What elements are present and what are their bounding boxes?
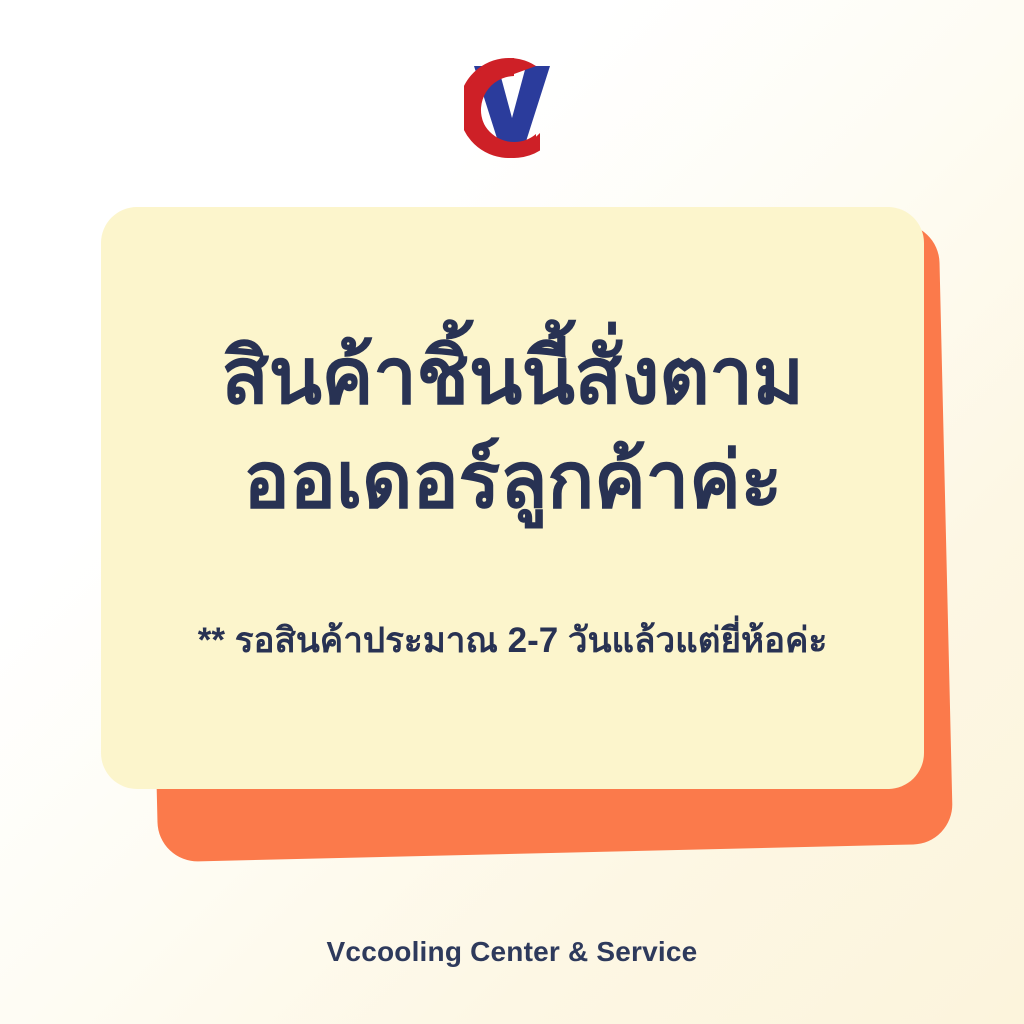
notice-subtitle: ** รอสินค้าประมาณ 2-7 วันแล้วแต่ยี่ห้อค่…: [198, 618, 828, 664]
headline-line-1: สินค้าชิ้นนี้สั่งตาม: [221, 325, 803, 429]
poster-canvas: สินค้าชิ้นนี้สั่งตาม ออเดอร์ลูกค้าค่ะ **…: [0, 0, 1024, 1024]
notice-card-body: สินค้าชิ้นนี้สั่งตาม ออเดอร์ลูกค้าค่ะ **…: [101, 207, 924, 789]
footer-brand-name: Vccooling Center & Service: [327, 936, 698, 968]
notice-card-stack: สินค้าชิ้นนี้สั่งตาม ออเดอร์ลูกค้าค่ะ **…: [0, 0, 1024, 1024]
notice-card: สินค้าชิ้นนี้สั่งตาม ออเดอร์ลูกค้าค่ะ **…: [101, 207, 924, 789]
headline-line-2: ออเดอร์ลูกค้าค่ะ: [243, 429, 782, 533]
footer: Vccooling Center & Service: [0, 936, 1024, 968]
